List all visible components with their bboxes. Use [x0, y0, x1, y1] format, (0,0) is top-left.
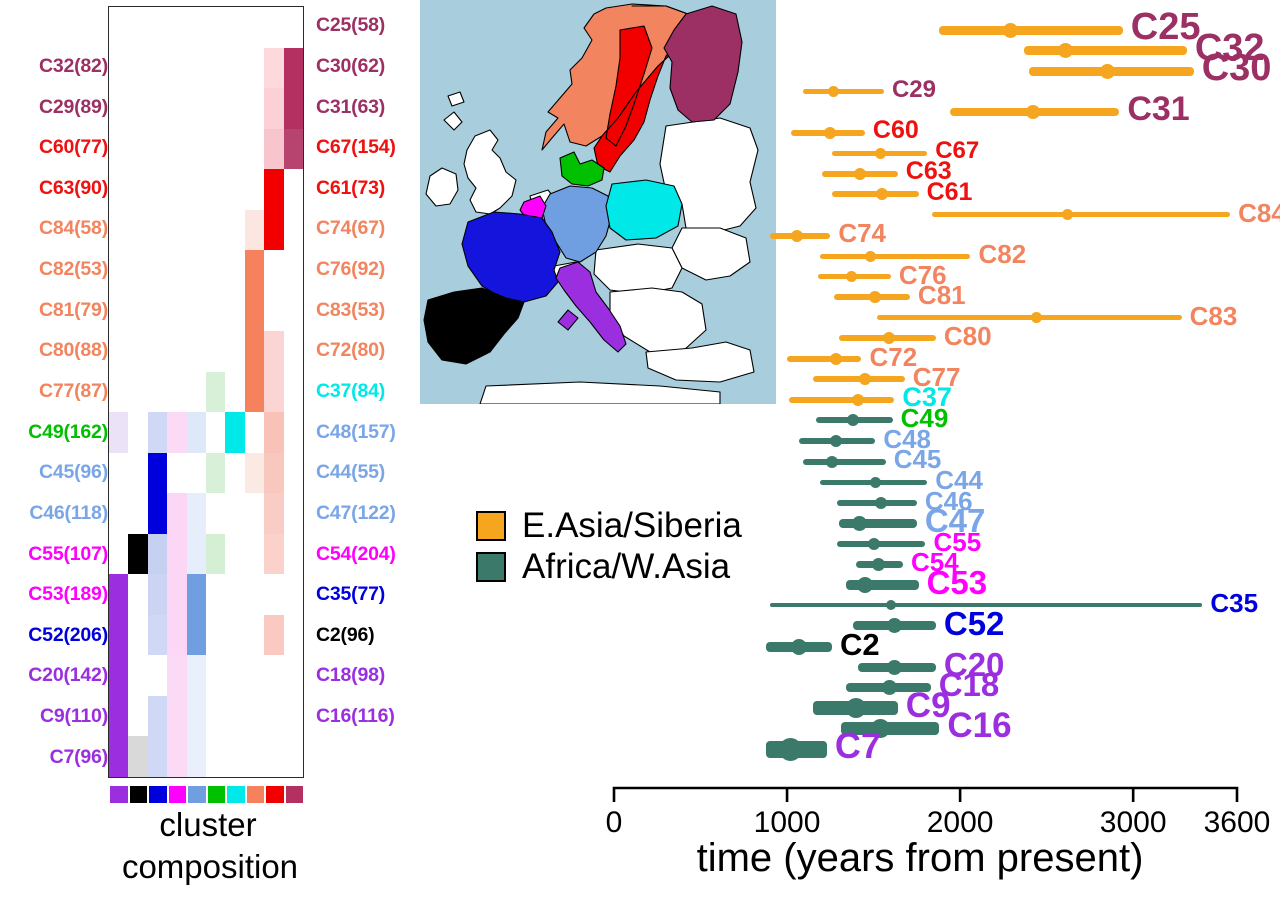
heatmap-cell: [206, 372, 225, 413]
heatmap-cell: [109, 291, 128, 332]
axis-title: time (years from present): [550, 836, 1280, 881]
heatmap-cell: [128, 534, 147, 575]
heatmap-cell: [264, 372, 283, 413]
heatmap-cell: [109, 372, 128, 413]
heatmap-cell: [167, 169, 186, 210]
heatmap-cell: [245, 291, 264, 332]
heatmap-cell: [109, 331, 128, 372]
axis-line: [614, 788, 1237, 802]
heatmap-cell: [206, 169, 225, 210]
heatmap-cell: [187, 453, 206, 494]
heatmap-row-label-left: C84(58): [39, 219, 108, 239]
heatmap-cell: [264, 493, 283, 534]
cluster-key-swatch-magenta: [169, 786, 187, 803]
heatmap-cell: [167, 88, 186, 129]
cluster-key-swatch-blue: [149, 786, 167, 803]
heatmap-cell: [264, 534, 283, 575]
heatmap-cell: [148, 169, 167, 210]
heatmap-cell: [245, 696, 264, 737]
heatmap-grid: [109, 7, 303, 777]
heatmap-cell: [245, 412, 264, 453]
heatmap-cell: [167, 291, 186, 332]
heatmap-cell: [167, 250, 186, 291]
heatmap-cell: [128, 372, 147, 413]
heatmap-cell: [245, 574, 264, 615]
heatmap-cell: [187, 331, 206, 372]
heatmap-cell: [187, 48, 206, 89]
heatmap-cell: [109, 696, 128, 737]
axis-tick-label: 1000: [754, 806, 821, 840]
heatmap-cell: [284, 696, 303, 737]
heatmap-cell: [167, 210, 186, 251]
heatmap-cell: [264, 129, 283, 170]
heatmap-cell: [245, 736, 264, 777]
heatmap-row-label-left: C45(96): [39, 463, 108, 483]
heatmap-cell: [264, 48, 283, 89]
heatmap-cell: [128, 210, 147, 251]
heatmap-cell: [284, 291, 303, 332]
heatmap-cell: [245, 88, 264, 129]
heatmap-row-label-left: C63(90): [39, 179, 108, 199]
time-interval-panel: C25C32C30C29C31C60C67C63C61C84C74C82C76C…: [560, 0, 1280, 905]
heatmap-cell: [109, 655, 128, 696]
heatmap-cell: [206, 574, 225, 615]
heatmap-cell: [225, 615, 244, 656]
heatmap-cell: [148, 7, 167, 48]
heatmap-cell: [187, 169, 206, 210]
heatmap-row-label-right: C44(55): [316, 463, 385, 483]
heatmap-cell: [148, 291, 167, 332]
axis-tick-label: 2000: [927, 806, 994, 840]
heatmap-cell: [284, 493, 303, 534]
heatmap-plot-area: [108, 6, 304, 778]
heatmap-cell: [264, 210, 283, 251]
heatmap-row-label-right: C83(53): [316, 301, 385, 321]
heatmap-row-label-left: C81(79): [39, 301, 108, 321]
heatmap-cell: [128, 331, 147, 372]
time-axis: [560, 0, 1280, 905]
heatmap-cell: [264, 615, 283, 656]
heatmap-cell: [284, 48, 303, 89]
heatmap-cell: [225, 736, 244, 777]
heatmap-row-label-left: C53(189): [28, 585, 108, 605]
heatmap-cell: [109, 169, 128, 210]
heatmap-cell: [148, 453, 167, 494]
cluster-key-swatch-maroon: [286, 786, 304, 803]
heatmap-cell: [245, 7, 264, 48]
heatmap-cell: [284, 210, 303, 251]
heatmap-cell: [206, 655, 225, 696]
heatmap-cell: [284, 88, 303, 129]
heatmap-cell: [206, 736, 225, 777]
heatmap-cell: [148, 372, 167, 413]
heatmap-cell: [128, 574, 147, 615]
cluster-key-swatch-purple: [110, 786, 128, 803]
cluster-key-swatch-salmon: [247, 786, 265, 803]
cluster-composition-caption-line1: cluster: [108, 806, 308, 844]
heatmap-cell: [109, 493, 128, 534]
heatmap-cell: [128, 655, 147, 696]
heatmap-cell: [148, 331, 167, 372]
heatmap-cell: [245, 250, 264, 291]
heatmap-cell: [128, 453, 147, 494]
heatmap-cell: [167, 696, 186, 737]
heatmap-cell: [264, 412, 283, 453]
heatmap-row-label-left: C49(162): [28, 423, 108, 443]
heatmap-cell: [167, 574, 186, 615]
heatmap-cell: [284, 7, 303, 48]
heatmap-cell: [167, 372, 186, 413]
heatmap-cell: [225, 7, 244, 48]
heatmap-cell: [148, 534, 167, 575]
heatmap-cell: [284, 372, 303, 413]
heatmap-cell: [225, 453, 244, 494]
heatmap-cell: [284, 331, 303, 372]
heatmap-cell: [225, 169, 244, 210]
heatmap-cell: [225, 129, 244, 170]
heatmap-cell: [187, 372, 206, 413]
heatmap-row-label-right: C30(62): [316, 57, 385, 77]
heatmap-cell: [245, 493, 264, 534]
heatmap-row-label-left: C9(110): [40, 707, 108, 727]
heatmap-cell: [284, 736, 303, 777]
heatmap-cell: [206, 129, 225, 170]
axis-tick-label: 3000: [1100, 806, 1167, 840]
heatmap-cell: [148, 696, 167, 737]
heatmap-cell: [167, 48, 186, 89]
cluster-key-swatch-red: [266, 786, 284, 803]
heatmap-row-label-left: C32(82): [39, 57, 108, 77]
heatmap-row-label-right: C67(154): [316, 138, 396, 158]
heatmap-cell: [148, 574, 167, 615]
heatmap-cell: [264, 655, 283, 696]
heatmap-row-label-right: C61(73): [316, 179, 385, 199]
heatmap-cell: [206, 210, 225, 251]
heatmap-cell: [128, 88, 147, 129]
heatmap-row-label-left: C46(118): [29, 504, 108, 524]
heatmap-cell: [187, 696, 206, 737]
heatmap-cell: [128, 412, 147, 453]
heatmap-cell: [245, 129, 264, 170]
heatmap-cell: [284, 169, 303, 210]
heatmap-cell: [187, 7, 206, 48]
heatmap-cell: [167, 655, 186, 696]
heatmap-cell: [225, 250, 244, 291]
heatmap-cell: [187, 129, 206, 170]
heatmap-cell: [109, 534, 128, 575]
heatmap-row-label-left: C82(53): [39, 260, 108, 280]
heatmap-cell: [148, 250, 167, 291]
heatmap-row-label-right: C31(63): [316, 98, 385, 118]
heatmap-row-label-left: C60(77): [39, 138, 108, 158]
heatmap-row-label-right: C74(67): [316, 219, 385, 239]
cluster-composition-panel: C32(82)C29(89)C60(77)C63(90)C84(58)C82(5…: [0, 0, 420, 905]
heatmap-cell: [128, 615, 147, 656]
heatmap-cell: [206, 534, 225, 575]
heatmap-cell: [284, 655, 303, 696]
heatmap-cell: [167, 736, 186, 777]
heatmap-cell: [206, 493, 225, 534]
heatmap-cell: [109, 412, 128, 453]
heatmap-row-label-right: C2(96): [316, 626, 374, 646]
heatmap-cell: [187, 736, 206, 777]
heatmap-cell: [206, 88, 225, 129]
heatmap-cell: [187, 534, 206, 575]
heatmap-cell: [187, 88, 206, 129]
heatmap-row-label-left: C7(96): [50, 748, 108, 768]
heatmap-cell: [128, 48, 147, 89]
heatmap-cell: [206, 291, 225, 332]
heatmap-cell: [167, 331, 186, 372]
heatmap-cell: [109, 7, 128, 48]
heatmap-cell: [148, 88, 167, 129]
heatmap-row-label-right: C54(204): [316, 545, 396, 565]
heatmap-cell: [109, 210, 128, 251]
heatmap-cell: [225, 655, 244, 696]
heatmap-cell: [284, 250, 303, 291]
heatmap-cell: [225, 493, 244, 534]
heatmap-cell: [264, 696, 283, 737]
heatmap-cell: [148, 655, 167, 696]
heatmap-row-label-right: C37(84): [316, 382, 385, 402]
legend-swatch: [476, 552, 506, 582]
heatmap-row-label-left: C55(107): [28, 545, 108, 565]
heatmap-row-label-left: C52(206): [28, 626, 108, 646]
heatmap-cell: [264, 453, 283, 494]
heatmap-cell: [206, 331, 225, 372]
heatmap-cell: [284, 129, 303, 170]
heatmap-cell: [109, 129, 128, 170]
heatmap-cell: [225, 372, 244, 413]
heatmap-row-label-left: C80(88): [39, 341, 108, 361]
heatmap-cell: [109, 574, 128, 615]
heatmap-cell: [245, 453, 264, 494]
legend-swatch: [476, 511, 506, 541]
heatmap-cell: [206, 412, 225, 453]
heatmap-cell: [148, 48, 167, 89]
heatmap-cell: [128, 129, 147, 170]
heatmap-row-label-right: C18(98): [316, 666, 385, 686]
heatmap-cell: [206, 48, 225, 89]
cluster-composition-caption-line2: composition: [60, 848, 360, 886]
cluster-key-swatch-black: [130, 786, 148, 803]
heatmap-cell: [206, 696, 225, 737]
cluster-key-swatch-cornflower-blue: [188, 786, 206, 803]
heatmap-cell: [128, 250, 147, 291]
heatmap-cell: [245, 655, 264, 696]
axis-tick-label: 3600: [1204, 806, 1271, 840]
heatmap-cell: [284, 453, 303, 494]
heatmap-cell: [109, 736, 128, 777]
heatmap-cell: [245, 615, 264, 656]
heatmap-row-label-right: C47(122): [316, 504, 396, 524]
heatmap-cell: [109, 615, 128, 656]
heatmap-cell: [187, 250, 206, 291]
heatmap-cell: [264, 736, 283, 777]
axis-tick-label: 0: [606, 806, 623, 840]
heatmap-cell: [167, 412, 186, 453]
heatmap-cell: [167, 7, 186, 48]
heatmap-cell: [109, 88, 128, 129]
heatmap-cell: [225, 534, 244, 575]
heatmap-cell: [245, 48, 264, 89]
heatmap-cell: [264, 7, 283, 48]
heatmap-cell: [225, 88, 244, 129]
heatmap-cell: [148, 412, 167, 453]
heatmap-cell: [284, 615, 303, 656]
heatmap-row-label-left: C20(142): [28, 666, 108, 686]
heatmap-cell: [148, 210, 167, 251]
heatmap-cell: [225, 696, 244, 737]
heatmap-cell: [128, 696, 147, 737]
heatmap-cell: [128, 7, 147, 48]
heatmap-cell: [264, 574, 283, 615]
heatmap-cell: [284, 412, 303, 453]
heatmap-cell: [148, 736, 167, 777]
heatmap-cell: [245, 331, 264, 372]
heatmap-cell: [128, 291, 147, 332]
heatmap-row-label-right: C76(92): [316, 260, 385, 280]
heatmap-cell: [187, 412, 206, 453]
heatmap-row-label-left: C77(87): [39, 382, 108, 402]
heatmap-row-label-left: C29(89): [39, 98, 108, 118]
cluster-key-swatch-cyan: [227, 786, 245, 803]
heatmap-cell: [128, 493, 147, 534]
heatmap-cell: [225, 331, 244, 372]
heatmap-cell: [225, 48, 244, 89]
heatmap-cell: [128, 736, 147, 777]
heatmap-cell: [187, 291, 206, 332]
heatmap-cell: [167, 534, 186, 575]
heatmap-cell: [245, 210, 264, 251]
heatmap-cell: [109, 250, 128, 291]
heatmap-cell: [225, 210, 244, 251]
heatmap-row-label-right: C35(77): [316, 585, 385, 605]
heatmap-cell: [206, 615, 225, 656]
heatmap-cell: [148, 615, 167, 656]
heatmap-cell: [225, 291, 244, 332]
heatmap-cell: [284, 534, 303, 575]
heatmap-cell: [148, 493, 167, 534]
heatmap-cell: [245, 372, 264, 413]
heatmap-cell: [148, 129, 167, 170]
heatmap-cell: [109, 453, 128, 494]
heatmap-cell: [264, 291, 283, 332]
heatmap-cell: [206, 453, 225, 494]
heatmap-cell: [206, 7, 225, 48]
heatmap-cell: [187, 655, 206, 696]
cluster-color-key: [110, 786, 303, 803]
heatmap-row-label-right: C25(58): [316, 16, 385, 36]
heatmap-cell: [167, 453, 186, 494]
heatmap-row-label-right: C16(116): [316, 707, 395, 727]
heatmap-cell: [206, 250, 225, 291]
heatmap-cell: [284, 574, 303, 615]
heatmap-cell: [225, 412, 244, 453]
heatmap-cell: [167, 615, 186, 656]
heatmap-cell: [128, 169, 147, 210]
heatmap-cell: [225, 574, 244, 615]
cluster-key-swatch-green: [208, 786, 226, 803]
heatmap-cell: [264, 331, 283, 372]
heatmap-cell: [167, 493, 186, 534]
heatmap-cell: [264, 250, 283, 291]
heatmap-cell: [245, 169, 264, 210]
heatmap-cell: [264, 169, 283, 210]
heatmap-cell: [109, 48, 128, 89]
heatmap-cell: [187, 210, 206, 251]
heatmap-cell: [264, 88, 283, 129]
heatmap-cell: [187, 493, 206, 534]
heatmap-cell: [187, 574, 206, 615]
heatmap-cell: [167, 129, 186, 170]
heatmap-row-label-right: C48(157): [316, 423, 396, 443]
heatmap-cell: [187, 615, 206, 656]
heatmap-cell: [245, 534, 264, 575]
heatmap-row-label-right: C72(80): [316, 341, 385, 361]
